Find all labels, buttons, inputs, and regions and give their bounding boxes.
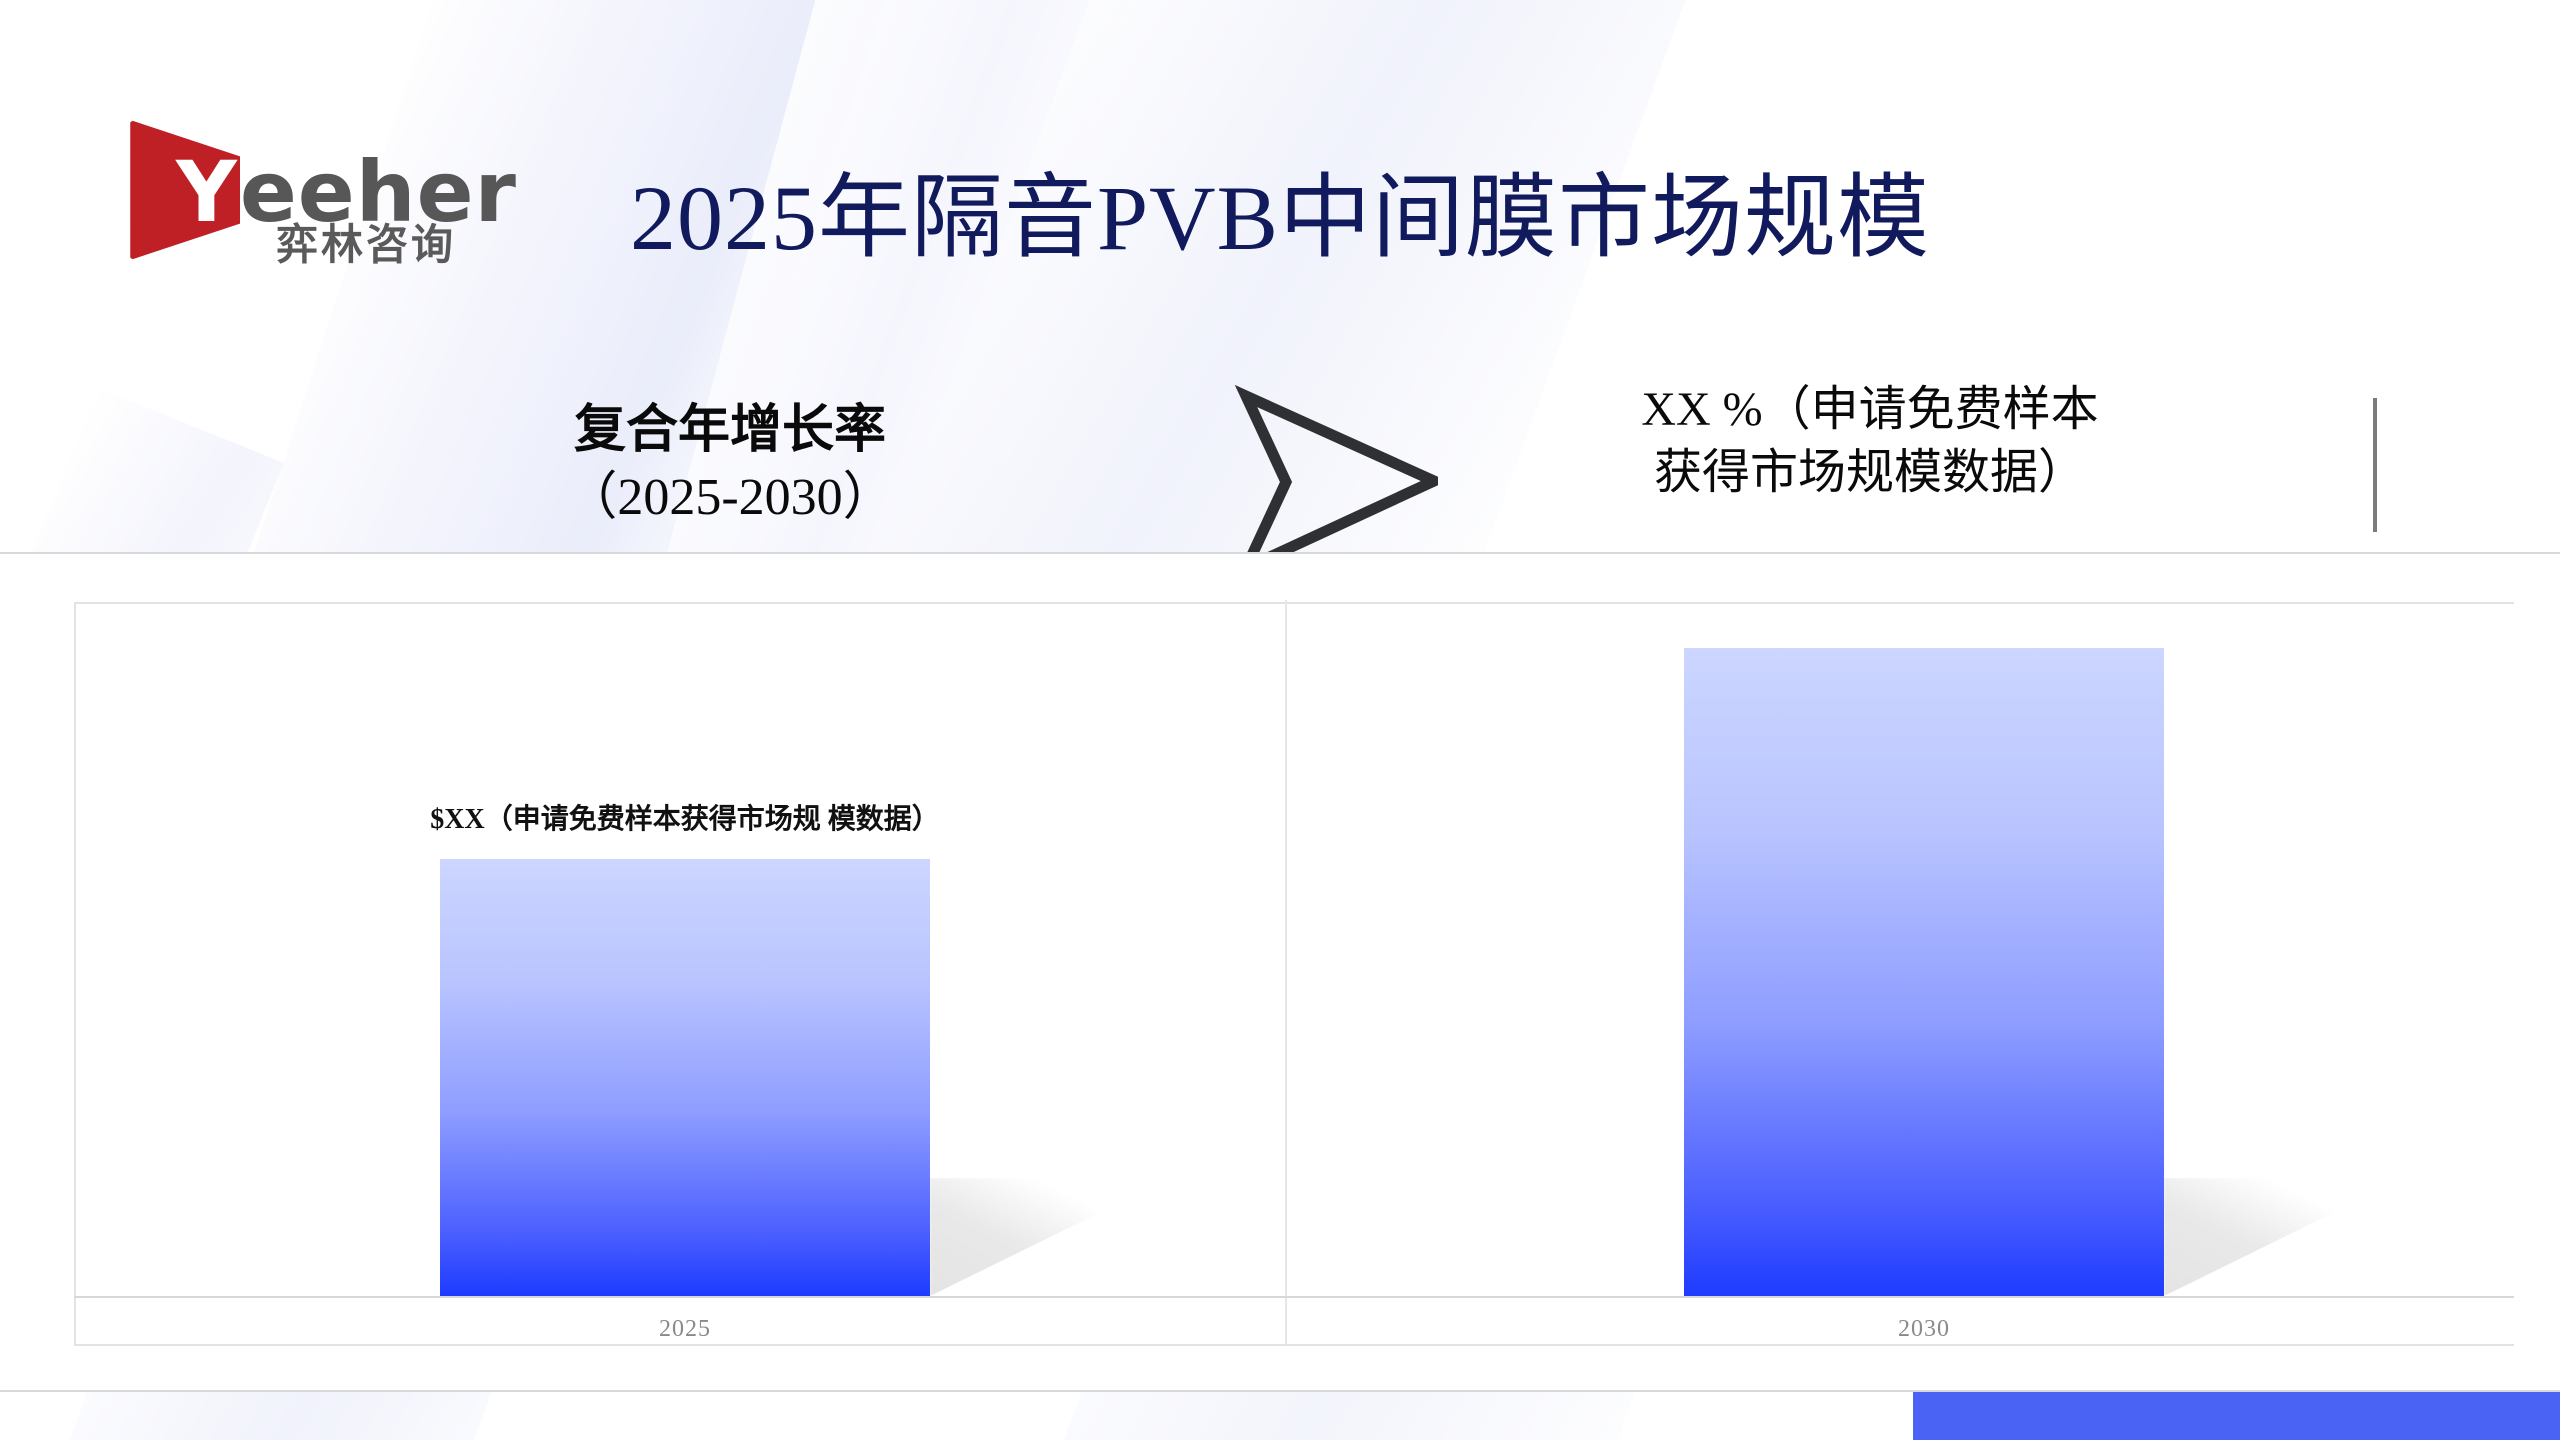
bar-chart-plot: $XX（申请免费样本获得市场规 模数据） 2025 2030 bbox=[74, 552, 2514, 1392]
bar-value-line2: 模数据） bbox=[828, 804, 940, 835]
bar-group-2030 bbox=[1684, 648, 2164, 1296]
cagr-callout: 复合年增长率 （2025-2030） bbox=[470, 398, 990, 531]
bar-value-label-2025: $XX（申请免费样本获得市场规 模数据） bbox=[370, 802, 1000, 839]
growth-value-line2: 获得市场规模数据） bbox=[1620, 441, 2120, 504]
bar-value-line1: $XX（申请免费样本获得市场规 bbox=[430, 804, 820, 835]
bar-2025[interactable]: $XX（申请免费样本获得市场规 模数据） bbox=[440, 859, 930, 1296]
bar-shadow bbox=[930, 1178, 1170, 1296]
growth-value-callout: XX %（申请免费样本 获得市场规模数据） bbox=[1620, 378, 2120, 505]
bar-group-2025: $XX（申请免费样本获得市场规 模数据） bbox=[440, 648, 930, 1296]
chart-baseline bbox=[74, 1296, 2514, 1298]
cagr-label-line1: 复合年增长率 bbox=[470, 398, 990, 465]
arrow-right-icon bbox=[1228, 382, 1438, 578]
axis-tick-2030: 2030 bbox=[1684, 1316, 2164, 1343]
axis-tick-2025: 2025 bbox=[440, 1316, 930, 1343]
series-divider bbox=[1285, 600, 1287, 1344]
cagr-label-line2: （2025-2030） bbox=[470, 465, 990, 532]
page-title: 2025年隔音PVB中间膜市场规模 bbox=[0, 168, 2560, 269]
bar-shadow bbox=[2164, 1178, 2404, 1296]
bar-2030[interactable] bbox=[1684, 648, 2164, 1296]
bottom-accent-band bbox=[1913, 1392, 2560, 1440]
growth-value-line1: XX %（申请免费样本 bbox=[1620, 378, 2120, 441]
right-divider bbox=[2373, 398, 2377, 532]
slide-canvas: Yeeher 弈林咨询 2025年隔音PVB中间膜市场规模 复合年增长率 （20… bbox=[0, 0, 2560, 1440]
